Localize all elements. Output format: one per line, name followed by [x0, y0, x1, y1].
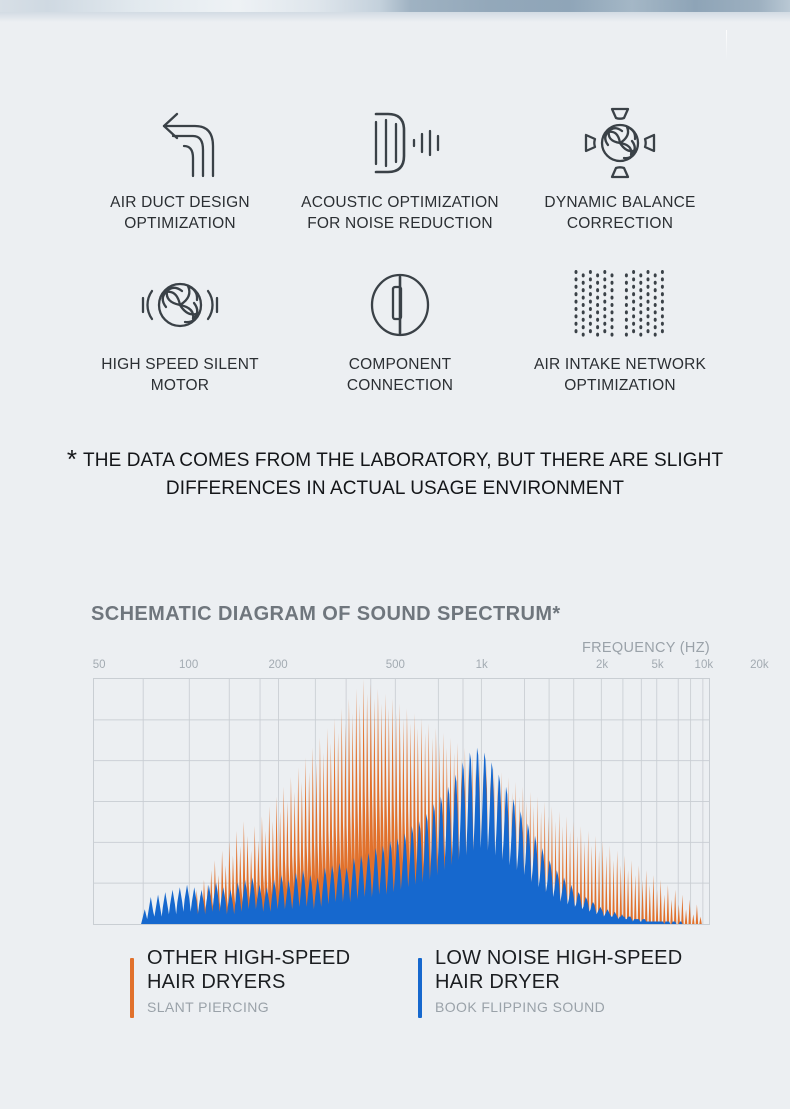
feature-item-air-duct: AIR DUCT DESIGNOPTIMIZATION: [70, 100, 290, 234]
disclaimer-note: *THE DATA COMES FROM THE LABORATORY, BUT…: [60, 447, 730, 503]
component-link-icon: [360, 262, 440, 348]
feature-grid: AIR DUCT DESIGNOPTIMIZATION ACOUSTIC OPT…: [70, 100, 730, 396]
feature-label: DYNAMIC BALANCECORRECTION: [544, 192, 695, 234]
legend-item-other-dryers: OTHER HIGH-SPEEDHAIR DRYERSSLANT PIERCIN…: [130, 946, 350, 1018]
x-tick-500: 500: [386, 659, 405, 671]
legend-item-low-noise-dryer: LOW NOISE HIGH-SPEED HAIR DRYERBOOK FLIP…: [418, 946, 682, 1018]
feature-item-dynamic-balance: DYNAMIC BALANCECORRECTION: [510, 100, 730, 234]
feature-label: AIR DUCT DESIGNOPTIMIZATION: [110, 192, 250, 234]
silent-motor-icon: [134, 262, 226, 348]
feature-item-air-intake-mesh: AIR INTAKE NETWORKOPTIMIZATION: [510, 262, 730, 396]
page-margin-tick: [726, 30, 727, 60]
legend-subtitle: SLANT PIERCING: [147, 999, 350, 1015]
x-tick-200: 200: [269, 659, 288, 671]
air-intake-mesh-icon: [570, 262, 670, 348]
feature-item-silent-motor: HIGH SPEED SILENTMOTOR: [70, 262, 290, 396]
x-tick-50: 50: [93, 659, 106, 671]
air-duct-icon: [137, 100, 223, 186]
acoustic-wave-icon: [354, 100, 446, 186]
legend-title: LOW NOISE HIGH-SPEED HAIR DRYER: [435, 946, 682, 994]
feature-item-component-link: COMPONENTCONNECTION: [290, 262, 510, 396]
x-tick-10k: 10k: [695, 659, 714, 671]
asterisk-marker: *: [67, 444, 77, 474]
disclaimer-text: THE DATA COMES FROM THE LABORATORY, BUT …: [83, 450, 723, 499]
legend-color-swatch: [418, 958, 422, 1018]
x-tick-2k: 2k: [596, 659, 608, 671]
chart-title: SCHEMATIC DIAGRAM OF SOUND SPECTRUM*: [91, 603, 561, 626]
decorative-top-strip: [0, 0, 790, 12]
sound-spectrum-plot: [93, 678, 710, 925]
feature-label: ACOUSTIC OPTIMIZATIONFOR NOISE REDUCTION: [301, 192, 499, 234]
feature-label: HIGH SPEED SILENTMOTOR: [101, 354, 259, 396]
feature-label: COMPONENTCONNECTION: [347, 354, 453, 396]
spectrum-svg: [94, 679, 709, 924]
feature-item-acoustic-wave: ACOUSTIC OPTIMIZATIONFOR NOISE REDUCTION: [290, 100, 510, 234]
legend-color-swatch: [130, 958, 134, 1018]
dynamic-balance-icon: [578, 100, 662, 186]
top-strip-shadow: [0, 12, 790, 22]
legend-subtitle: BOOK FLIPPING SOUND: [435, 999, 682, 1015]
x-tick-100: 100: [179, 659, 198, 671]
chart-legend: OTHER HIGH-SPEEDHAIR DRYERSSLANT PIERCIN…: [130, 946, 750, 1022]
x-tick-5k: 5k: [651, 659, 663, 671]
x-tick-20k: 20k: [750, 659, 769, 671]
feature-label: AIR INTAKE NETWORKOPTIMIZATION: [534, 354, 706, 396]
x-axis-tick-labels: 501002005001k2k5k10k20k: [0, 659, 790, 675]
x-tick-1k: 1k: [476, 659, 488, 671]
legend-title: OTHER HIGH-SPEEDHAIR DRYERS: [147, 946, 350, 994]
x-axis-unit-label: FREQUENCY (HZ): [0, 640, 710, 656]
